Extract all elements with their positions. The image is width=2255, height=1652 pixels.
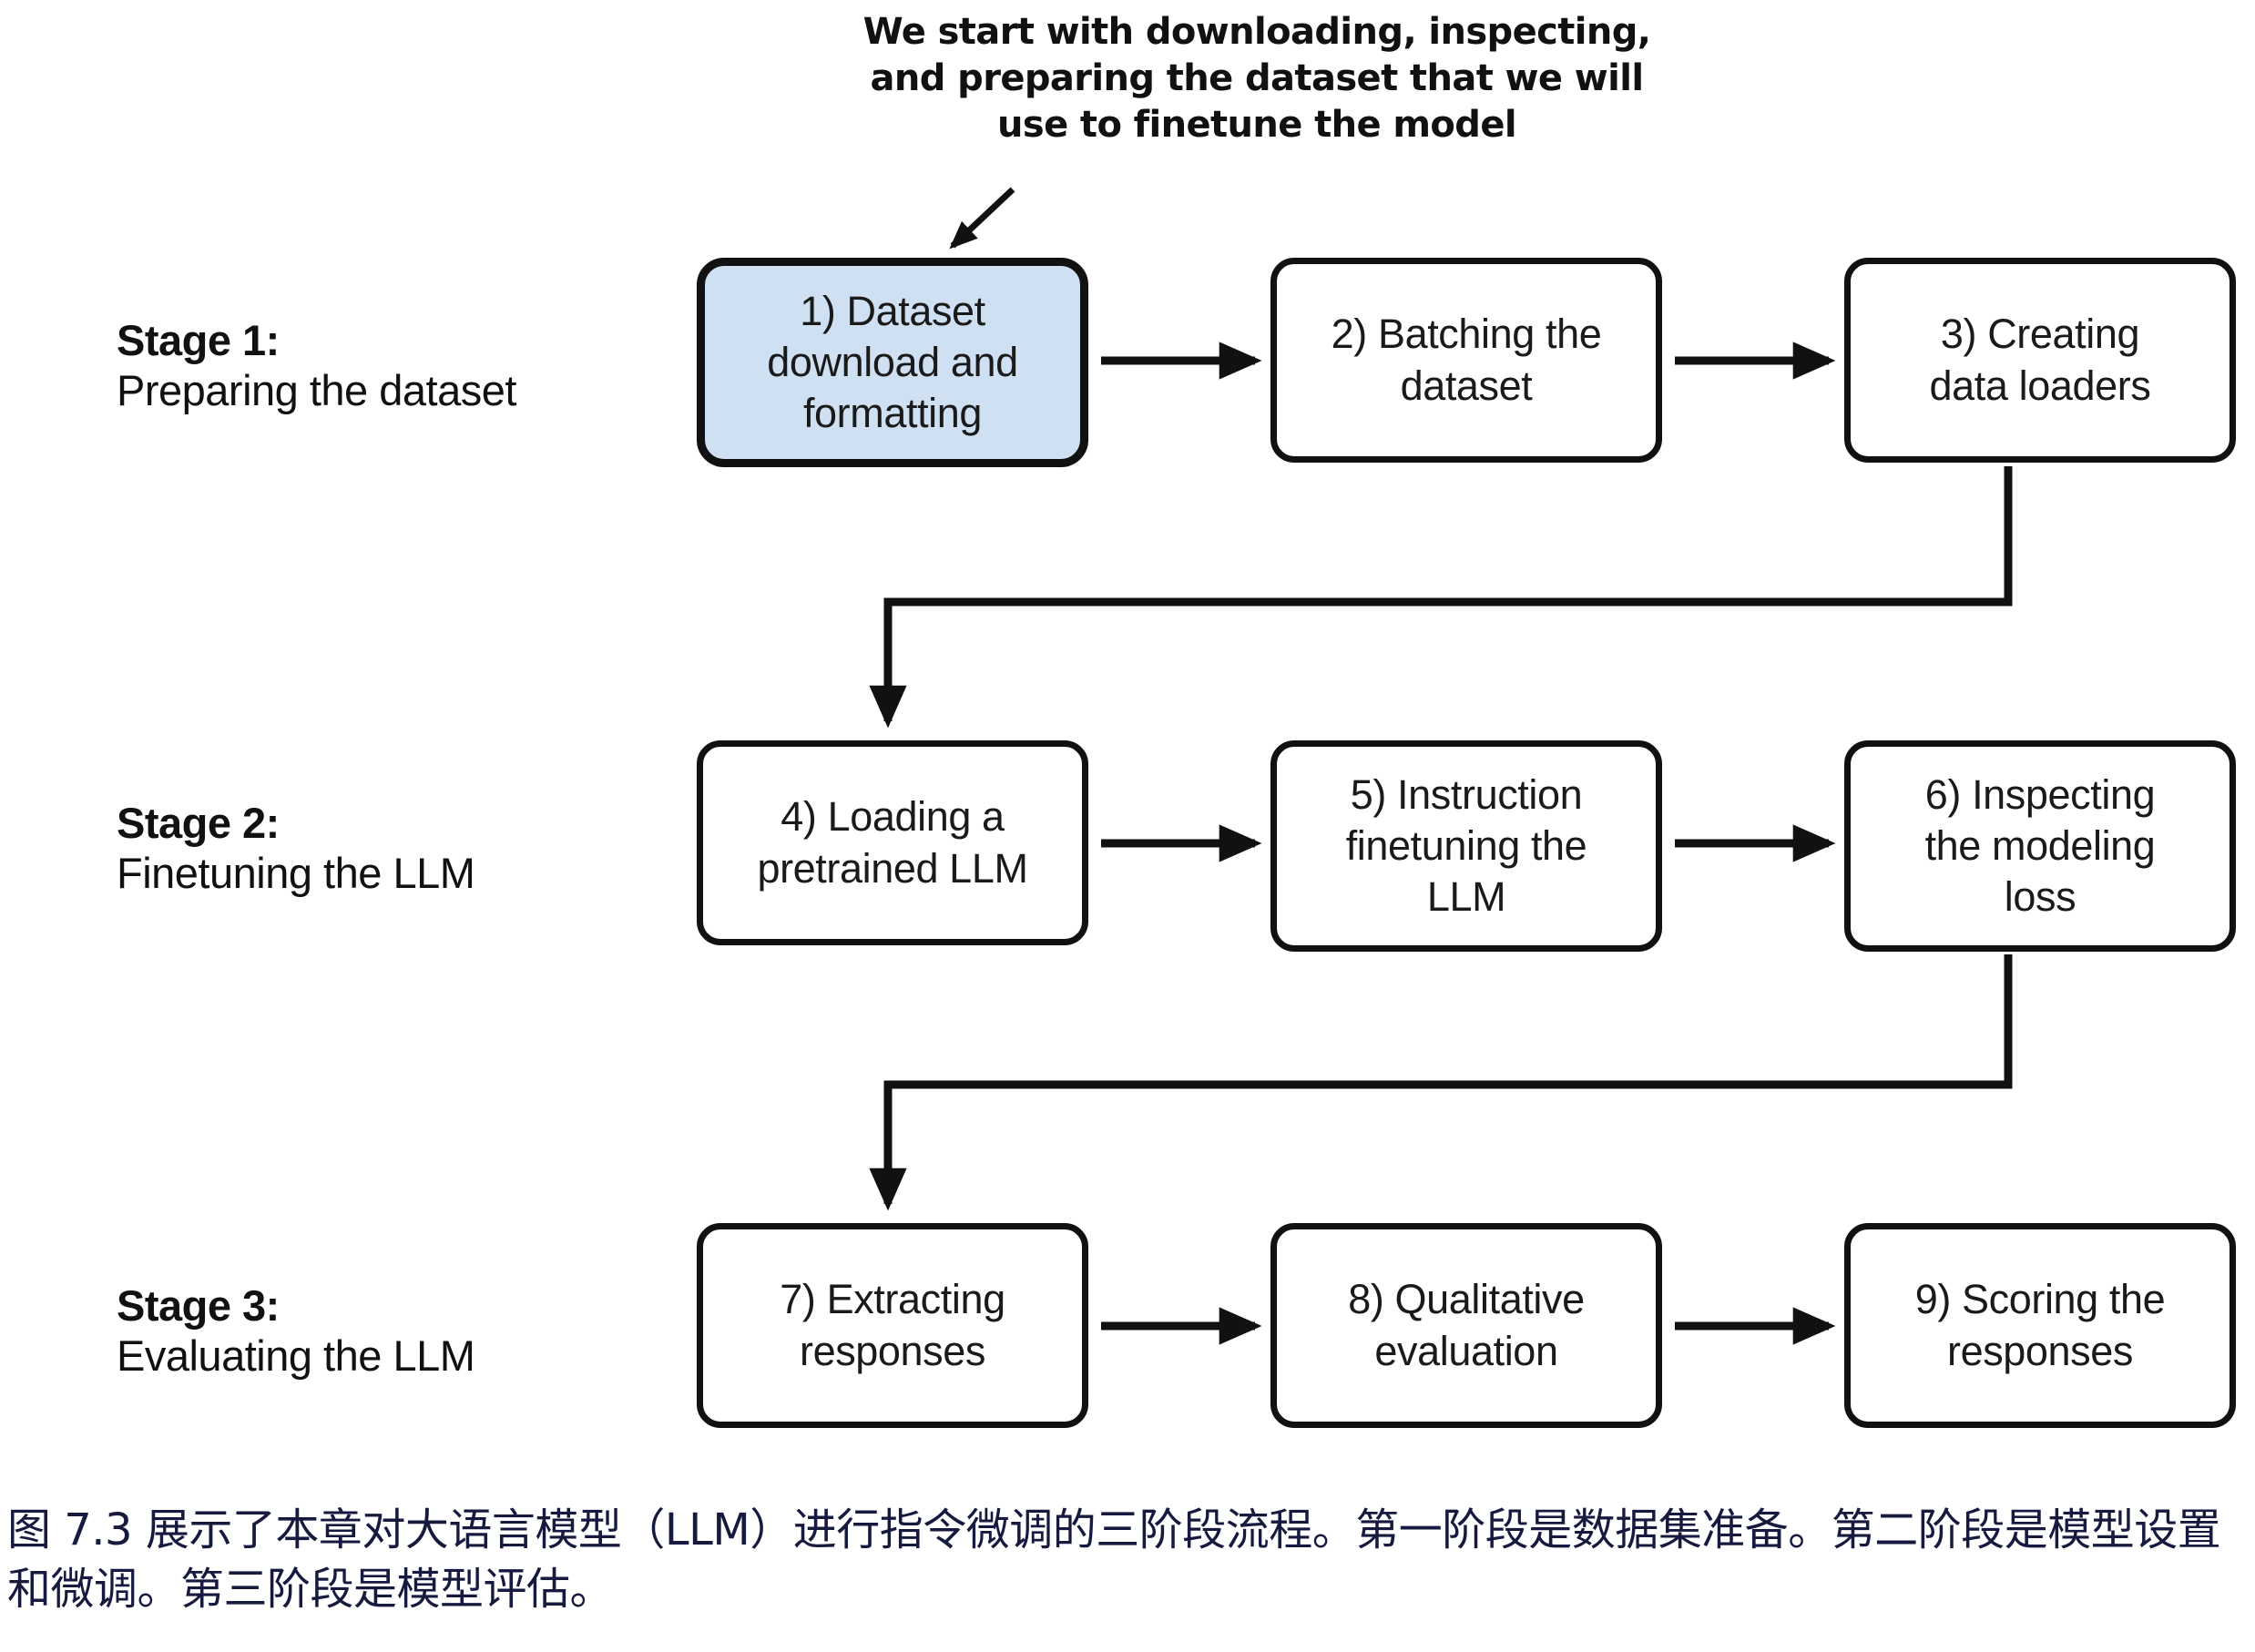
stage-3-title: Stage 3: <box>117 1282 663 1331</box>
process-box-9-scoring-the-responses[interactable]: 9) Scoring the responses <box>1844 1223 2236 1428</box>
process-box-3-creating-data-loaders[interactable]: 3) Creating data loaders <box>1844 258 2236 463</box>
stage-1-subtitle: Preparing the dataset <box>117 365 663 416</box>
process-box-8-qualitative-evaluation[interactable]: 8) Qualitative evaluation <box>1270 1223 1662 1428</box>
stage-2-title: Stage 2: <box>117 800 663 848</box>
stage-label-1: Stage 1: Preparing the dataset <box>117 317 663 416</box>
stage-2-subtitle: Finetuning the LLM <box>117 848 663 899</box>
process-box-5-instruction-finetuning-the-llm[interactable]: 5) Instruction finetuning the LLM <box>1270 740 1662 952</box>
process-box-7-extracting-responses[interactable]: 7) Extracting responses <box>697 1223 1088 1428</box>
stage-3-subtitle: Evaluating the LLM <box>117 1331 663 1382</box>
connector-stage1-to-stage2 <box>888 466 2008 721</box>
process-box-6-inspecting-the-modeling-loss[interactable]: 6) Inspecting the modeling loss <box>1844 740 2236 952</box>
process-box-4-loading-a-pretrained-llm[interactable]: 4) Loading a pretrained LLM <box>697 740 1088 945</box>
process-box-1-dataset-download-and-formatting[interactable]: 1) Dataset download and formatting <box>697 258 1088 467</box>
process-box-2-batching-the-dataset[interactable]: 2) Batching the dataset <box>1270 258 1662 463</box>
figure-caption: 图 7.3 展示了本章对大语言模型（LLM）进行指令微调的三阶段流程。第一阶段是… <box>7 1501 2248 1619</box>
stage-label-3: Stage 3: Evaluating the LLM <box>117 1282 663 1382</box>
connector-stage2-to-stage3 <box>888 954 2008 1204</box>
figure-canvas: We start with downloading, inspecting, a… <box>0 0 2255 1652</box>
stage-1-title: Stage 1: <box>117 317 663 365</box>
annotation-note: We start with downloading, inspecting, a… <box>856 9 1658 149</box>
annotation-pointer-arrow <box>953 189 1013 246</box>
stage-label-2: Stage 2: Finetuning the LLM <box>117 800 663 899</box>
